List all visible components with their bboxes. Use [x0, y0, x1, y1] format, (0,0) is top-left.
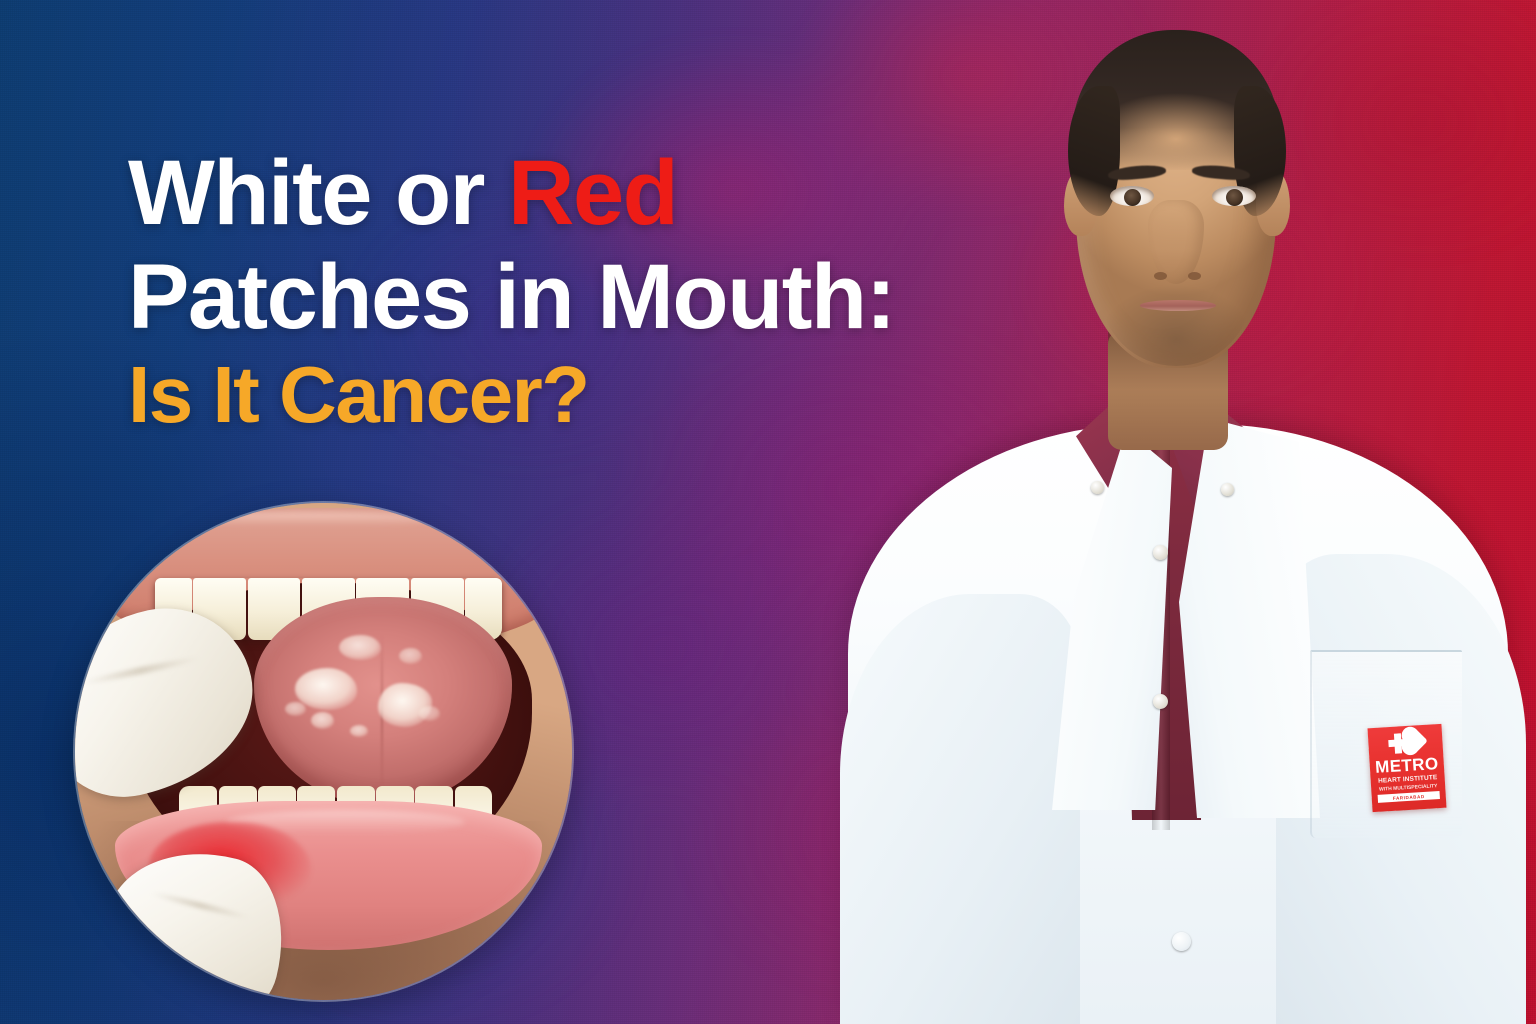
logo-bar-text: FARIDABAD: [1393, 794, 1425, 801]
white-patch: [419, 706, 440, 721]
white-patch: [339, 635, 380, 660]
mouth: [1140, 300, 1216, 311]
white-patch: [311, 712, 334, 729]
white-patch: [378, 683, 432, 727]
upper-lip-highlight: [167, 512, 444, 526]
metro-logo-badge: METRO HEART INSTITUTE WITH MULTISPECIALI…: [1368, 724, 1447, 812]
iris-left: [1124, 189, 1141, 206]
headline-line-3: Is It Cancer?: [128, 356, 968, 434]
white-patch: [295, 668, 357, 710]
lab-coat-shoulder-left: [840, 594, 1080, 1024]
logo-mark: [1385, 729, 1427, 757]
logo-bottom-bar: FARIDABAD: [1378, 791, 1440, 803]
heart-icon: [1404, 729, 1428, 753]
glove-fold: [81, 655, 201, 687]
headline-line-1-red: Red: [508, 142, 677, 244]
coat-button: [1172, 932, 1191, 951]
collar-button-left: [1091, 481, 1104, 494]
logo-name: METRO: [1375, 755, 1439, 776]
headline-line-1: White or Red: [128, 148, 968, 238]
white-patch: [285, 702, 306, 717]
mouth-photo-content: [75, 503, 572, 1000]
iris-right: [1226, 189, 1243, 206]
white-patch: [399, 648, 422, 665]
collar-button-right: [1221, 483, 1234, 496]
headline-block: White or Red Patches in Mouth: Is It Can…: [128, 148, 968, 435]
poster-canvas: White or Red Patches in Mouth: Is It Can…: [0, 0, 1536, 1024]
clinical-mouth-photo: [75, 503, 572, 1000]
shirt-button: [1153, 545, 1168, 560]
white-patch: [350, 725, 368, 738]
headline-line-2: Patches in Mouth:: [128, 252, 968, 342]
headline-line-1-white: White or: [128, 142, 508, 244]
glove-fold: [149, 890, 251, 922]
shirt-button: [1153, 694, 1168, 709]
